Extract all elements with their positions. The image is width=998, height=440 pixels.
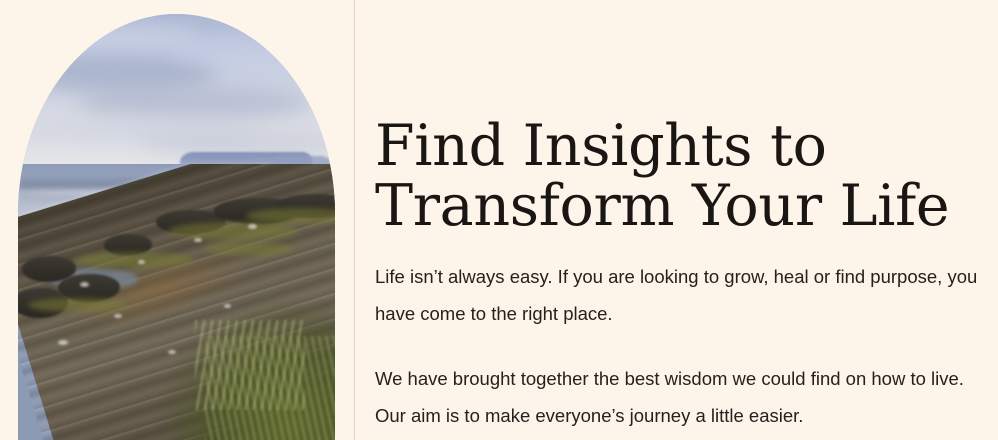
lichen-speck [58, 340, 68, 345]
lichen-speck [194, 238, 202, 242]
photo-scene [18, 14, 335, 440]
seaweed-patch [74, 252, 194, 268]
cloud [78, 86, 308, 120]
hero-section: Find Insights to Transform Your Life Lif… [0, 0, 998, 440]
column-divider [354, 0, 355, 440]
sky-region [18, 14, 335, 166]
cloud [48, 24, 198, 50]
lichen-speck [114, 314, 122, 318]
seaweed-patch [28, 298, 128, 312]
cloud [138, 132, 335, 154]
seaweed-patch [168, 222, 298, 240]
lichen-speck [248, 224, 257, 229]
seaweed-patch [204, 242, 294, 256]
cloud [168, 38, 335, 68]
arched-coastal-photo [18, 14, 335, 440]
lichen-speck [80, 282, 89, 287]
hero-media-column [0, 0, 354, 440]
hero-paragraph-2: We have brought together the best wisdom… [375, 360, 995, 434]
grass-blades-light [195, 320, 305, 410]
hero-text-column: Find Insights to Transform Your Life Lif… [375, 0, 998, 440]
lichen-speck [138, 260, 145, 264]
rocky-shore-region [18, 164, 335, 440]
page-title: Find Insights to Transform Your Life [375, 116, 985, 236]
hero-paragraph-1: Life isn’t always easy. If you are looki… [375, 258, 995, 332]
